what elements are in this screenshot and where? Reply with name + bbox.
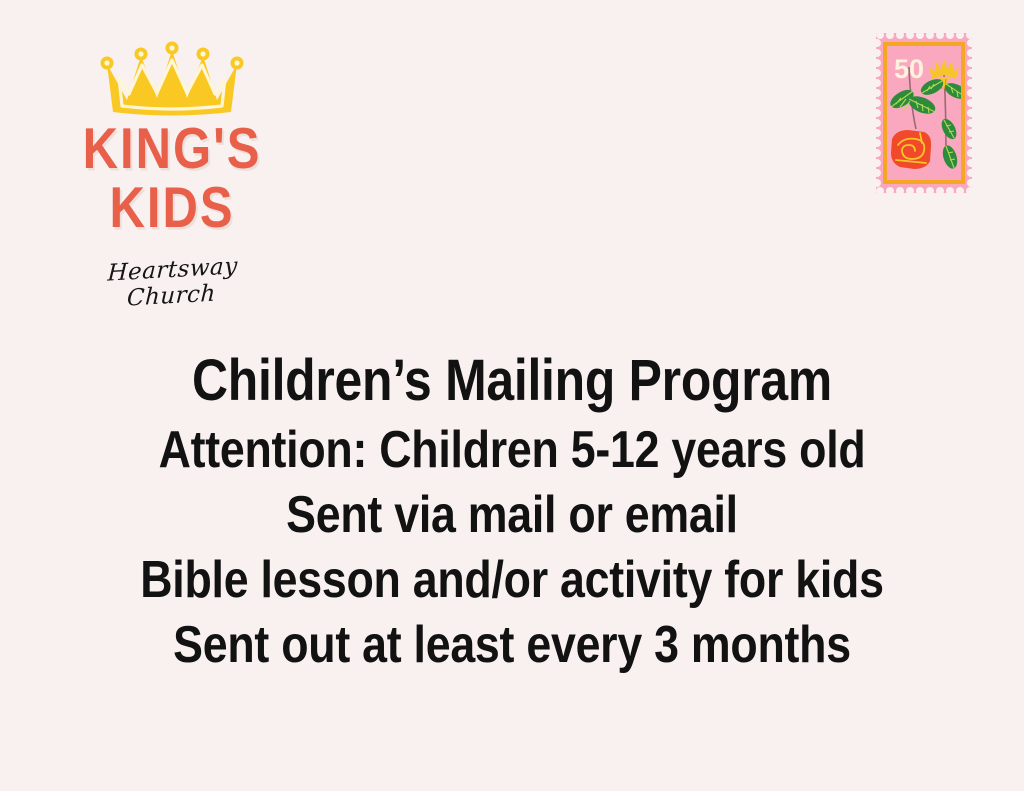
church-name: Heartsway Church bbox=[61, 251, 283, 316]
program-detail-frequency: Sent out at least every 3 months bbox=[72, 619, 953, 671]
brand-name-line-1: KING'S bbox=[62, 122, 282, 177]
program-title: Children’s Mailing Program bbox=[72, 352, 953, 410]
slide-canvas: KING'S KIDS Heartsway Church bbox=[0, 0, 1024, 791]
program-detail-content: Bible lesson and/or activity for kids bbox=[72, 554, 953, 606]
program-detail-delivery: Sent via mail or email bbox=[72, 489, 953, 541]
stamp-denomination: 50 bbox=[894, 54, 924, 84]
program-detail-audience: Attention: Children 5-12 years old bbox=[72, 424, 953, 476]
crown-icon bbox=[97, 38, 247, 118]
postage-stamp-icon: 50 bbox=[876, 33, 972, 193]
brand-name-line-2: KIDS bbox=[62, 181, 282, 236]
program-description: Children’s Mailing Program Attention: Ch… bbox=[0, 352, 1024, 671]
kings-kids-logo: KING'S KIDS Heartsway Church bbox=[62, 30, 282, 309]
